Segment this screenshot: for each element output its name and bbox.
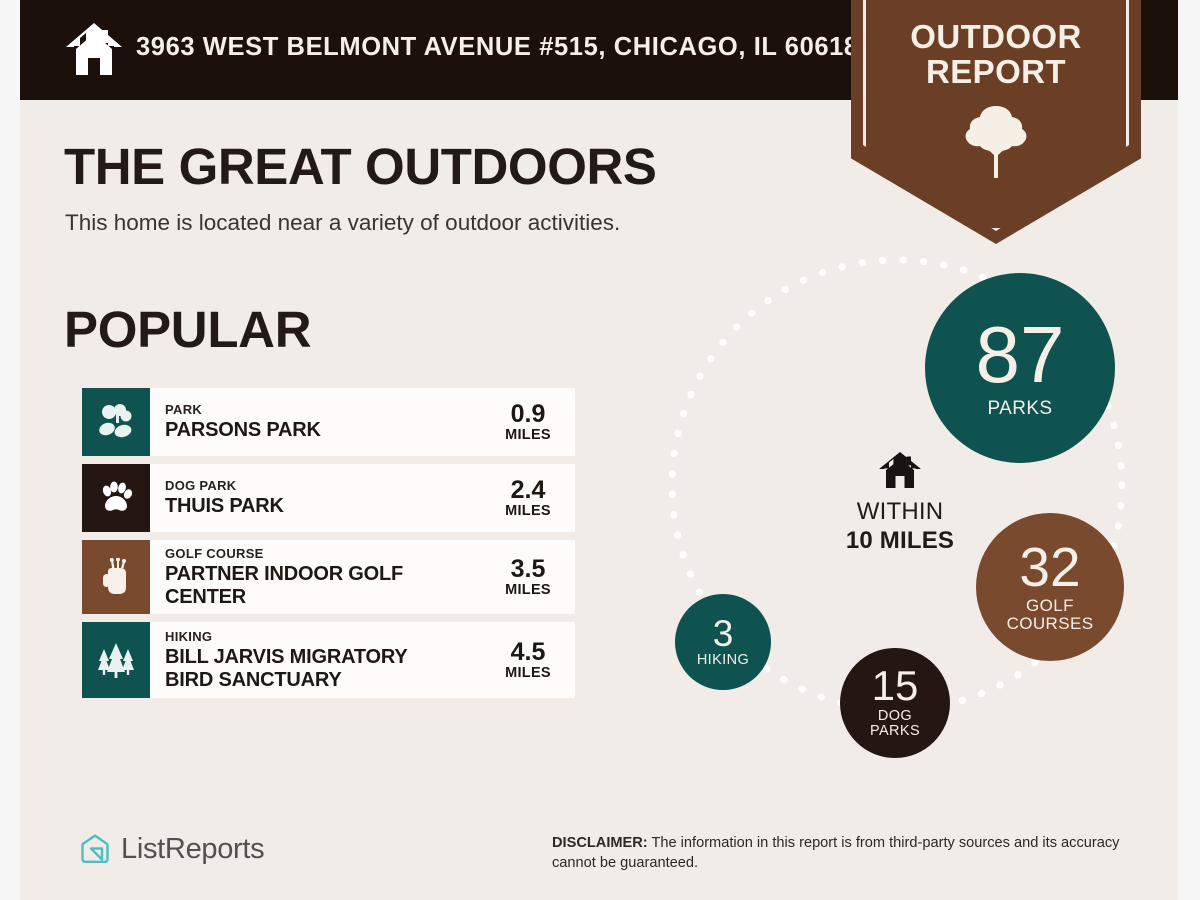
distance-value: 3.5 bbox=[511, 556, 546, 582]
list-item-text: PARK PARSONS PARK bbox=[150, 388, 489, 456]
stat-label-line2: PARKS bbox=[870, 724, 920, 739]
paw-print-icon bbox=[82, 464, 150, 532]
list-item-name: THUIS PARK bbox=[165, 495, 489, 517]
list-item-distance: 0.9 MILES bbox=[489, 388, 575, 456]
stat-circle-golf-courses[interactable]: 32 GOLF COURSES bbox=[976, 513, 1124, 661]
list-item-text: HIKING BILL JARVIS MIGRATORY BIRD SANCTU… bbox=[150, 622, 489, 698]
list-item-name: BILL JARVIS MIGRATORY BIRD SANCTUARY bbox=[165, 646, 445, 691]
within-line2: 10 MILES bbox=[815, 527, 985, 555]
report-page: 3963 WEST BELMONT AVENUE #515, CHICAGO, … bbox=[20, 0, 1178, 900]
stat-label-line2: COURSES bbox=[1007, 615, 1094, 633]
pine-trees-icon bbox=[82, 622, 150, 698]
badge-title-line1: OUTDOOR bbox=[851, 19, 1141, 54]
badge-title-line2: REPORT bbox=[851, 54, 1141, 89]
badge-title: OUTDOOR REPORT bbox=[851, 19, 1141, 90]
list-item[interactable]: GOLF COURSE PARTNER INDOOR GOLF CENTER 3… bbox=[82, 540, 575, 614]
list-item-distance: 4.5 MILES bbox=[489, 622, 575, 698]
distance-unit: MILES bbox=[505, 665, 551, 681]
stat-label-line1: GOLF bbox=[1007, 597, 1094, 615]
stat-label: DOG PARKS bbox=[870, 709, 920, 739]
list-item-text: GOLF COURSE PARTNER INDOOR GOLF CENTER bbox=[150, 540, 489, 614]
disclaimer: DISCLAIMER: The information in this repo… bbox=[552, 833, 1160, 873]
list-item-category: HIKING bbox=[165, 629, 489, 645]
list-item-category: PARK bbox=[165, 402, 489, 418]
stat-value: 32 bbox=[1019, 541, 1080, 593]
within-radius-label: WITHIN 10 MILES bbox=[815, 450, 985, 555]
list-item-name: PARTNER INDOOR GOLF CENTER bbox=[165, 563, 489, 608]
popular-heading: POPULAR bbox=[64, 300, 311, 359]
house-icon bbox=[64, 20, 124, 78]
listreports-house-icon bbox=[78, 832, 112, 866]
popular-list: PARK PARSONS PARK 0.9 MILES DOG PARK bbox=[82, 388, 575, 706]
distance-value: 0.9 bbox=[511, 401, 546, 427]
distance-unit: MILES bbox=[505, 503, 551, 519]
park-trees-icon bbox=[82, 388, 150, 456]
distance-unit: MILES bbox=[505, 427, 551, 443]
list-item-text: DOG PARK THUIS PARK bbox=[150, 464, 489, 532]
house-icon bbox=[878, 450, 922, 490]
stat-circle-dog-parks[interactable]: 15 DOG PARKS bbox=[840, 648, 950, 758]
listreports-logo[interactable]: ListReports bbox=[78, 832, 264, 866]
property-address: 3963 WEST BELMONT AVENUE #515, CHICAGO, … bbox=[136, 33, 859, 62]
stat-label: GOLF COURSES bbox=[1007, 597, 1094, 632]
list-item-category: DOG PARK bbox=[165, 478, 489, 494]
stat-label: PARKS bbox=[987, 399, 1052, 419]
within-line1: WITHIN bbox=[815, 498, 985, 526]
stat-label: HIKING bbox=[697, 653, 749, 668]
listreports-logo-text: ListReports bbox=[121, 833, 264, 866]
list-item[interactable]: HIKING BILL JARVIS MIGRATORY BIRD SANCTU… bbox=[82, 622, 575, 698]
list-item-distance: 2.4 MILES bbox=[489, 464, 575, 532]
list-item-name: PARSONS PARK bbox=[165, 419, 489, 441]
stat-circle-parks[interactable]: 87 PARKS bbox=[925, 273, 1115, 463]
stat-value: 15 bbox=[872, 666, 919, 706]
stat-label-line1: DOG bbox=[870, 709, 920, 724]
stat-value: 3 bbox=[713, 616, 734, 651]
stat-circle-hiking[interactable]: 3 HIKING bbox=[675, 594, 771, 690]
distance-unit: MILES bbox=[505, 582, 551, 598]
page-title: THE GREAT OUTDOORS bbox=[64, 137, 657, 196]
list-item[interactable]: PARK PARSONS PARK 0.9 MILES bbox=[82, 388, 575, 456]
page-subtitle: This home is located near a variety of o… bbox=[65, 210, 620, 236]
golf-bag-icon bbox=[82, 540, 150, 614]
tree-icon bbox=[960, 104, 1032, 180]
outdoor-report-badge: OUTDOOR REPORT bbox=[851, 0, 1141, 244]
distance-value: 4.5 bbox=[511, 639, 546, 665]
distance-value: 2.4 bbox=[511, 477, 546, 503]
disclaimer-label: DISCLAIMER: bbox=[552, 835, 648, 851]
list-item-distance: 3.5 MILES bbox=[489, 540, 575, 614]
list-item-category: GOLF COURSE bbox=[165, 546, 489, 562]
list-item[interactable]: DOG PARK THUIS PARK 2.4 MILES bbox=[82, 464, 575, 532]
within-10-miles-diagram: 87 PARKS 32 GOLF COURSES 15 DOG PARKS 3 … bbox=[620, 255, 1178, 785]
stat-value: 87 bbox=[976, 317, 1065, 393]
